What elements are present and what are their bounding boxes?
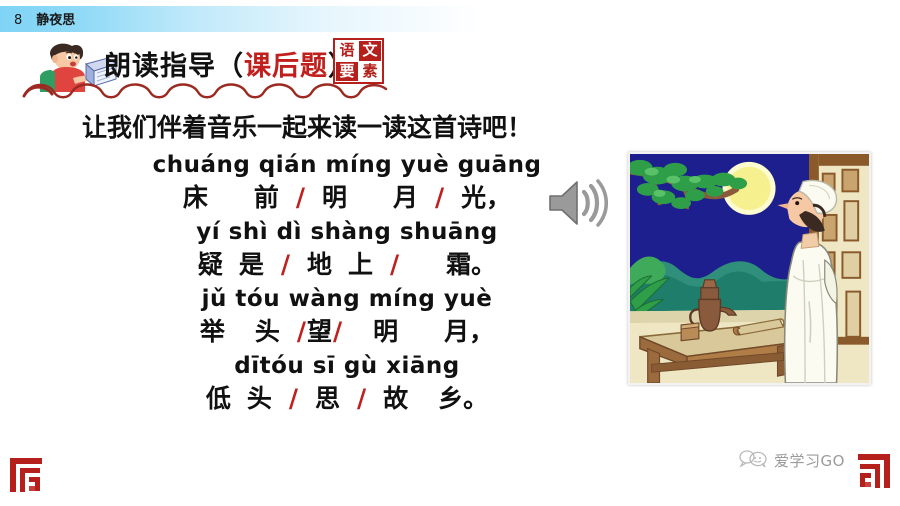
pause-slash: /: [356, 384, 367, 413]
hanzi-char: 故: [383, 384, 408, 413]
seal-char-top-left: 语: [336, 41, 358, 61]
lesson-band-text: 8静夜思: [14, 9, 75, 28]
poem-hanzi-2: 疑是/地上/霜。: [112, 248, 582, 282]
hanzi-char: 霜。: [446, 250, 496, 279]
seal-char-bottom-right: 素: [359, 62, 381, 82]
lesson-number: 8: [14, 13, 22, 28]
poem-line-4: dītóu sī gù xiāng 低头/思/故乡。: [112, 353, 582, 416]
section-title-main: 朗读指导: [104, 51, 216, 82]
hanzi-char: 是: [239, 250, 264, 279]
poem-line-3: jǔ tóu wàng míng yuè 举头/望/明月，: [112, 286, 582, 349]
poem-hanzi-3: 举头/望/明月，: [112, 315, 582, 349]
poem-line-2: yí shì dì shàng shuāng 疑是/地上/霜。: [112, 219, 582, 282]
poem-hanzi-1: 床前/明月/光，: [112, 181, 582, 215]
hanzi-char: 月，: [444, 317, 494, 346]
watermark-text: 爱学习GO: [774, 450, 845, 471]
hanzi-char: 举: [200, 317, 225, 346]
corner-ornament-left: [8, 452, 48, 494]
wave-divider: [22, 80, 392, 102]
poem-pinyin-1: chuáng qián míng yuè guāng: [112, 152, 582, 179]
hanzi-char: 上: [348, 250, 373, 279]
hanzi-char: 低: [206, 384, 231, 413]
watermark: 爱学习GO: [738, 447, 845, 473]
lesson-band: [0, 6, 560, 32]
speaker-icon[interactable]: [546, 174, 608, 232]
hanzi-char: 明: [373, 317, 398, 346]
pause-slash: /: [280, 250, 291, 279]
section-title-highlight: 课后题: [244, 51, 328, 82]
seal-char-top-right: 文: [359, 41, 381, 61]
hanzi-char: 头: [255, 317, 280, 346]
seal-char-bottom-left: 要: [336, 62, 358, 82]
pause-slash: /: [288, 384, 299, 413]
chat-bubble-icon: [738, 448, 768, 473]
poem-line-1: chuáng qián míng yuè guāng 床前/明月/光，: [112, 152, 582, 215]
hanzi-char: 地: [307, 250, 332, 279]
pause-slash: /: [389, 250, 400, 279]
poem-hanzi-4: 低头/思/故乡。: [112, 382, 582, 416]
hanzi-char: 光，: [461, 183, 511, 212]
lesson-title: 静夜思: [36, 13, 75, 28]
hanzi-char: 前: [254, 183, 279, 212]
poem-pinyin-4: dītóu sī gù xiāng: [112, 353, 582, 380]
seal-stamp: 语 文 要 素: [333, 38, 384, 84]
hanzi-char: 望: [307, 317, 332, 346]
slide-root: 8静夜思: [0, 0, 900, 506]
hanzi-char: 思: [315, 384, 340, 413]
poem-illustration: [628, 152, 871, 385]
section-title: 朗读指导（课后题）: [104, 44, 356, 83]
poem-block: chuáng qián míng yuè guāng 床前/明月/光， yí s…: [112, 152, 582, 420]
poem-pinyin-2: yí shì dì shàng shuāng: [112, 219, 582, 246]
hanzi-char: 乡。: [438, 384, 488, 413]
pause-slash: /: [332, 317, 343, 346]
hanzi-char: 疑: [198, 250, 223, 279]
poem-pinyin-3: jǔ tóu wàng míng yuè: [112, 286, 582, 313]
pause-slash: /: [295, 183, 306, 212]
hanzi-char: 明: [322, 183, 347, 212]
paren-open: （: [216, 51, 244, 82]
hanzi-char: 月: [393, 183, 418, 212]
instruction-text: 让我们伴着音乐一起来读一读这首诗吧！: [82, 108, 642, 144]
hanzi-char: 头: [247, 384, 272, 413]
hanzi-char: 床: [183, 183, 208, 212]
pause-slash: /: [434, 183, 445, 212]
pause-slash: /: [296, 317, 307, 346]
corner-ornament-right: [852, 448, 892, 490]
